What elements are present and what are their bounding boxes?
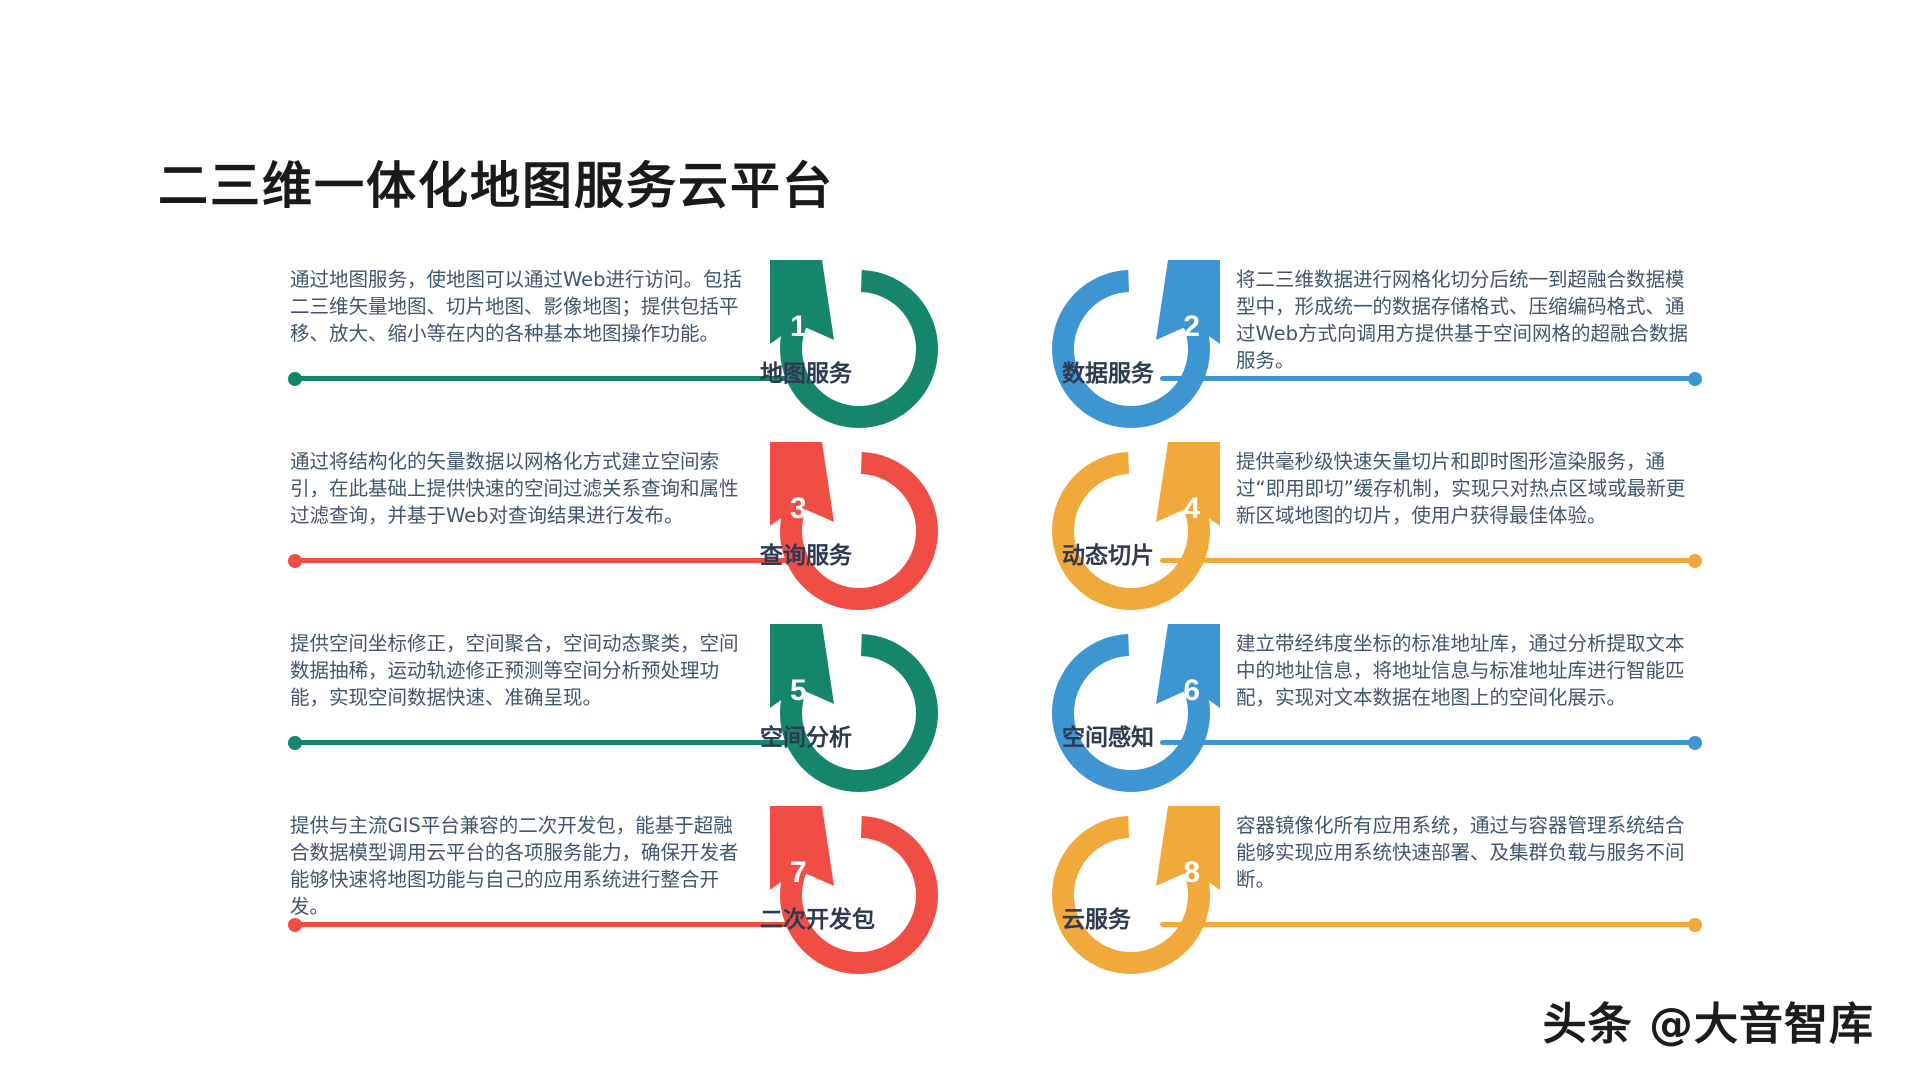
service-item[interactable]: 提供与主流GIS平台兼容的二次开发包，能基于超融合数据模型调用云平台的各项服务能… bbox=[290, 804, 950, 1034]
item-connector-line bbox=[290, 740, 810, 745]
item-description: 提供与主流GIS平台兼容的二次开发包，能基于超融合数据模型调用云平台的各项服务能… bbox=[290, 812, 750, 920]
item-ring[interactable]: 4 bbox=[1040, 440, 1222, 622]
progress-ring-icon bbox=[1040, 440, 1222, 622]
item-connector-line bbox=[290, 922, 810, 927]
page-title: 二三维一体化地图服务云平台 bbox=[158, 146, 834, 218]
progress-ring-icon bbox=[768, 622, 950, 804]
item-connector-dot bbox=[1688, 918, 1702, 932]
item-label: 云服务 bbox=[1062, 908, 1131, 931]
item-description: 通过地图服务，使地图可以通过Web进行访问。包括二三维矢量地图、切片地图、影像地… bbox=[290, 266, 750, 347]
item-connector-line bbox=[290, 558, 810, 563]
item-connector-line bbox=[1160, 376, 1700, 381]
item-label: 空间分析 bbox=[760, 726, 852, 749]
item-ring[interactable]: 3 bbox=[768, 440, 950, 622]
item-label: 数据服务 bbox=[1062, 362, 1154, 385]
item-connector-line bbox=[1160, 922, 1700, 927]
item-connector-line bbox=[1160, 558, 1700, 563]
item-ring[interactable]: 7 bbox=[768, 804, 950, 986]
item-label: 查询服务 bbox=[760, 544, 852, 567]
item-connector-dot bbox=[1688, 372, 1702, 386]
item-ring[interactable]: 5 bbox=[768, 622, 950, 804]
item-label: 地图服务 bbox=[760, 362, 852, 385]
progress-ring-icon bbox=[1040, 258, 1222, 440]
item-connector-dot bbox=[288, 372, 302, 386]
progress-ring-icon bbox=[768, 258, 950, 440]
item-connector-dot bbox=[288, 554, 302, 568]
item-description: 通过将结构化的矢量数据以网格化方式建立空间索引，在此基础上提供快速的空间过滤关系… bbox=[290, 448, 750, 529]
item-connector-dot bbox=[1688, 554, 1702, 568]
progress-ring-icon bbox=[1040, 622, 1222, 804]
progress-ring-icon bbox=[768, 440, 950, 622]
item-connector-line bbox=[1160, 740, 1700, 745]
item-label: 二次开发包 bbox=[760, 908, 875, 931]
item-connector-dot bbox=[288, 736, 302, 750]
watermark: 头条 @大音智库 bbox=[1543, 988, 1874, 1052]
item-ring[interactable]: 1 bbox=[768, 258, 950, 440]
progress-ring-icon bbox=[1040, 804, 1222, 986]
item-ring[interactable]: 2 bbox=[1040, 258, 1222, 440]
item-description: 容器镜像化所有应用系统，通过与容器管理系统结合能够实现应用系统快速部署、及集群负… bbox=[1236, 812, 1696, 893]
item-description: 提供空间坐标修正，空间聚合，空间动态聚类，空间数据抽稀，运动轨迹修正预测等空间分… bbox=[290, 630, 750, 711]
item-connector-dot bbox=[288, 918, 302, 932]
item-description: 将二三维数据进行网格化切分后统一到超融合数据模型中，形成统一的数据存储格式、压缩… bbox=[1236, 266, 1696, 374]
progress-ring-icon bbox=[768, 804, 950, 986]
item-ring[interactable]: 8 bbox=[1040, 804, 1222, 986]
item-connector-dot bbox=[1688, 736, 1702, 750]
item-description: 建立带经纬度坐标的标准地址库，通过分析提取文本中的地址信息，将地址信息与标准地址… bbox=[1236, 630, 1696, 711]
item-connector-line bbox=[290, 376, 810, 381]
item-description: 提供毫秒级快速矢量切片和即时图形渲染服务，通过“即用即切”缓存机制，实现只对热点… bbox=[1236, 448, 1696, 529]
item-label: 空间感知 bbox=[1062, 726, 1154, 749]
item-label: 动态切片 bbox=[1062, 544, 1154, 567]
item-ring[interactable]: 6 bbox=[1040, 622, 1222, 804]
